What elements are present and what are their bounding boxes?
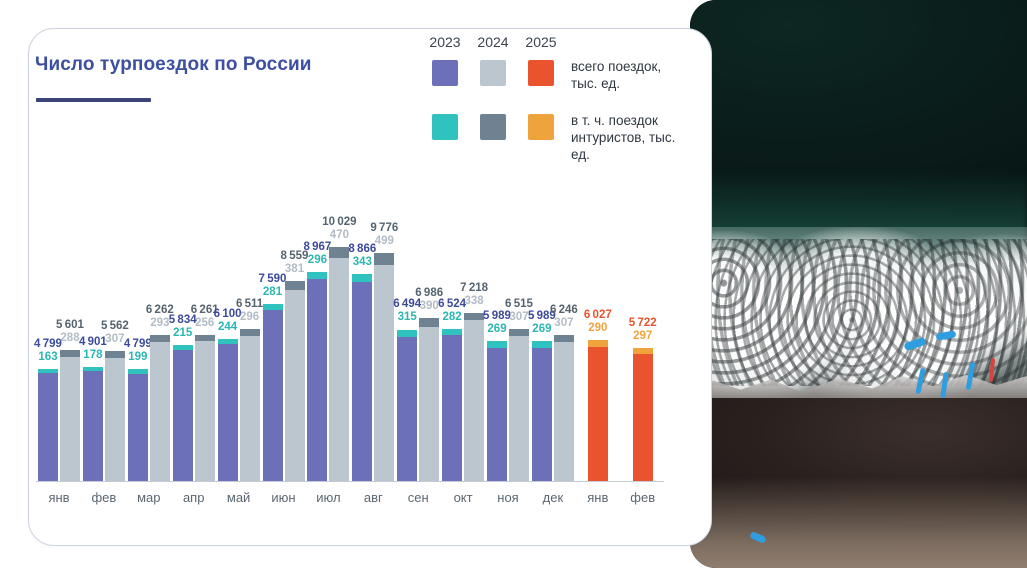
bar-segment-foreign [195, 335, 215, 341]
bar-segment-foreign [374, 253, 394, 265]
bar-2023[interactable] [307, 272, 327, 481]
bar-2023[interactable] [442, 329, 462, 481]
bar-segment-total [150, 342, 170, 481]
bar-2023[interactable] [397, 329, 417, 481]
bar-2023[interactable] [173, 345, 193, 481]
bar-2024[interactable] [105, 351, 125, 481]
slide-root: Число турпоездок по России 2023 2024 202… [0, 0, 1027, 568]
bar-segment-total [509, 336, 529, 481]
title-underline [36, 98, 151, 102]
bar-segment-total [487, 348, 507, 481]
bar-segment-total [195, 341, 215, 481]
bar-2024[interactable] [464, 313, 484, 481]
bar-2023[interactable] [487, 341, 507, 481]
x-axis-label: янв [36, 490, 82, 505]
bar-group: 5 722297 [633, 170, 653, 481]
x-axis-label: июн [261, 490, 307, 505]
bar-2023[interactable] [532, 341, 552, 481]
bar-segment-foreign [128, 369, 148, 374]
x-axis-label: янв [575, 490, 621, 505]
legend-year-2023: 2023 [426, 34, 464, 50]
bar-2023[interactable] [352, 274, 372, 481]
value-total: 5 722 [622, 317, 664, 330]
bar-segment-foreign [38, 369, 58, 373]
chart-plot-area: 4 7991635 6012884 9011785 5623074 799199… [36, 170, 664, 482]
bar-segment-foreign [307, 272, 327, 279]
bar-segment-total [307, 279, 327, 481]
bar-segment-foreign [218, 339, 238, 345]
bar-value-label: 5 722297 [622, 317, 664, 343]
bar-segment-total [105, 358, 125, 481]
legend-swatch-2024-total [480, 60, 506, 86]
bar-segment-foreign [285, 281, 305, 290]
chart-legend: 2023 2024 2025 всего поездок, тыс. ед. в… [404, 34, 664, 56]
legend-year-2025: 2025 [522, 34, 560, 50]
bar-segment-total [419, 327, 439, 481]
page-title: Число турпоездок по России [35, 54, 312, 76]
bar-group: 6 1002446 511296 [218, 170, 260, 481]
legend-label-foreign: в т. ч. поездок интуристов, тыс. ед. [571, 112, 681, 163]
bar-group: 6 027290 [588, 170, 608, 481]
bar-segment-total [83, 371, 103, 481]
bar-segment-total [38, 373, 58, 481]
bar-segment-foreign [588, 340, 608, 347]
bar-segment-foreign [83, 367, 103, 371]
bar-segment-total [240, 336, 260, 481]
legend-swatch-2023-total [432, 60, 458, 86]
bar-2024[interactable] [60, 350, 80, 481]
bar-2023[interactable] [83, 367, 103, 481]
bar-2024[interactable] [195, 335, 215, 481]
x-axis-label: дек [530, 490, 576, 505]
bar-2023[interactable] [128, 369, 148, 481]
bar-group: 4 7991635 601288 [38, 170, 80, 481]
legend-swatch-2025-foreign [528, 114, 554, 140]
legend-label-total: всего поездок, тыс. ед. [571, 58, 681, 92]
value-foreign: 290 [577, 322, 619, 335]
x-axis-line [36, 481, 664, 482]
bar-segment-foreign [633, 348, 653, 355]
legend-swatch-2023-foreign [432, 114, 458, 140]
bar-segment-foreign [554, 335, 574, 342]
bar-2025[interactable] [633, 348, 653, 482]
bar-segment-total [554, 342, 574, 481]
x-axis-label: мар [126, 490, 172, 505]
value-foreign: 297 [622, 330, 664, 343]
bar-group: 5 9892696 246307 [532, 170, 574, 481]
bar-2023[interactable] [38, 369, 58, 481]
bar-segment-foreign [442, 329, 462, 336]
photo-surf-texture [690, 239, 1027, 387]
x-axis-label: авг [350, 490, 396, 505]
bar-segment-foreign [263, 304, 283, 311]
bar-segment-total [329, 258, 349, 481]
bar-2024[interactable] [509, 329, 529, 481]
legend-year-2024: 2024 [474, 34, 512, 50]
bar-segment-total [397, 337, 417, 481]
bar-segment-total [633, 354, 653, 481]
x-axis-label: ноя [485, 490, 531, 505]
bar-segment-foreign [397, 330, 417, 337]
bar-segment-total [263, 310, 283, 481]
bar-2024[interactable] [285, 281, 305, 481]
x-axis-label: фев [81, 490, 127, 505]
bar-2024[interactable] [374, 253, 394, 481]
x-axis-label: фев [620, 490, 666, 505]
legend-swatch-2025-total [528, 60, 554, 86]
legend-swatch-2024-foreign [480, 114, 506, 140]
bar-group: 8 96729610 029470 [307, 170, 349, 481]
bar-group: 4 9011785 562307 [83, 170, 125, 481]
bar-2025[interactable] [588, 340, 608, 481]
bar-segment-foreign [487, 341, 507, 347]
x-axis-label: июл [305, 490, 351, 505]
bar-segment-total [588, 347, 608, 481]
bar-segment-total [60, 357, 80, 481]
bar-segment-total [128, 374, 148, 481]
bar-segment-foreign [532, 341, 552, 347]
bar-segment-total [464, 320, 484, 481]
bar-segment-foreign [240, 329, 260, 336]
bar-2024[interactable] [150, 335, 170, 481]
bar-segment-foreign [173, 345, 193, 350]
bar-value-label: 6 027290 [577, 309, 619, 335]
x-axis-labels: янвфевмарапрмайиюниюлавгсеноктноядекянвф… [36, 490, 664, 512]
bar-segment-total [173, 350, 193, 481]
bar-segment-total [532, 348, 552, 481]
value-total: 6 027 [577, 309, 619, 322]
bar-2024[interactable] [419, 318, 439, 481]
bar-2023[interactable] [263, 304, 283, 481]
bar-2024[interactable] [554, 335, 574, 481]
bar-chart: 4 7991635 6012884 9011785 5623074 799199… [36, 170, 664, 482]
bar-segment-total [285, 290, 305, 481]
bar-group: 6 4943156 986390 [397, 170, 439, 481]
x-axis-label: окт [440, 490, 486, 505]
beach-photo-panel [690, 0, 1027, 568]
bar-group: 8 8663439 776499 [352, 170, 394, 481]
photo-sand-highlight [690, 477, 1027, 568]
bar-group: 7 5902818 559381 [263, 170, 305, 481]
x-axis-label: сен [395, 490, 441, 505]
bar-segment-total [218, 344, 238, 481]
x-axis-label: апр [171, 490, 217, 505]
bar-segment-foreign [352, 274, 372, 282]
bar-segment-total [352, 282, 372, 481]
bar-2024[interactable] [240, 329, 260, 481]
legend-year-headers: 2023 2024 2025 [404, 34, 664, 56]
bar-2023[interactable] [218, 339, 238, 481]
x-axis-label: май [216, 490, 262, 505]
bar-segment-total [374, 265, 394, 481]
bar-segment-total [442, 335, 462, 481]
bar-2024[interactable] [329, 247, 349, 481]
